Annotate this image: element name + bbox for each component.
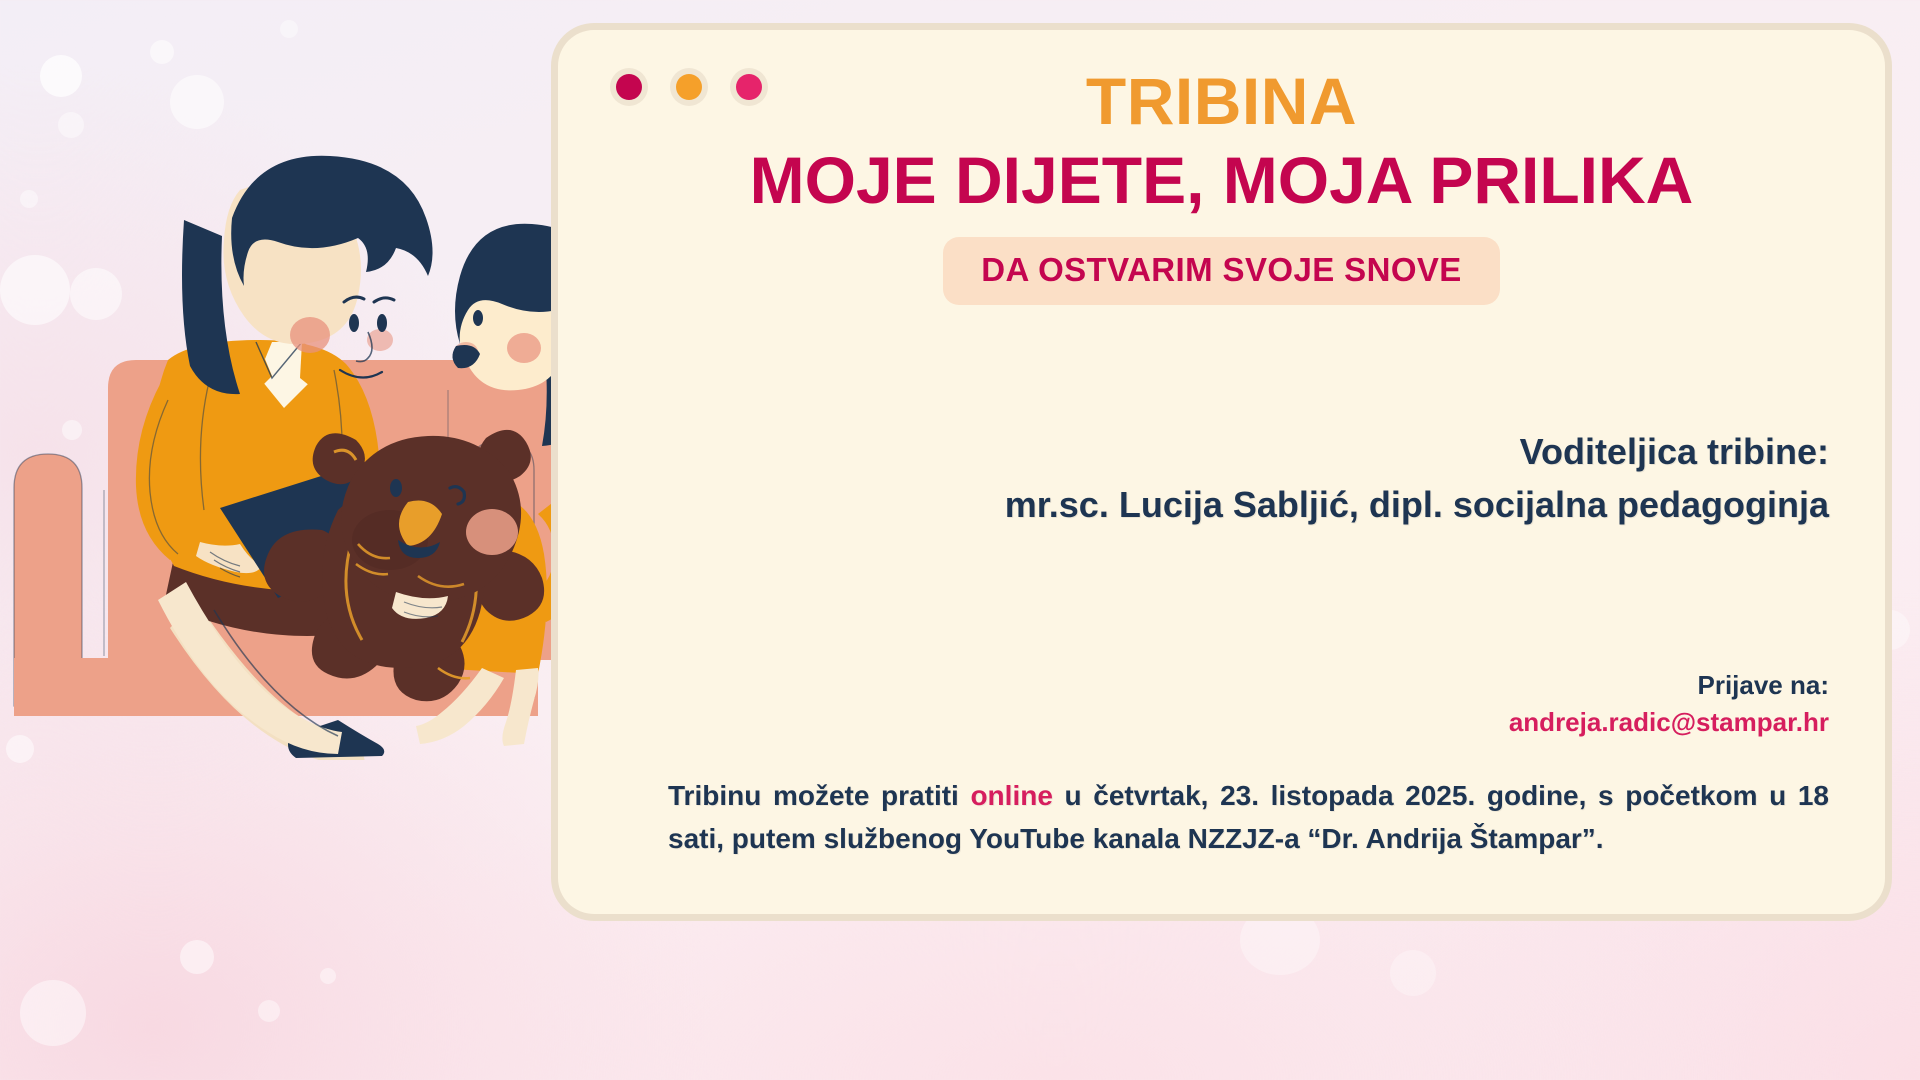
host-info: Voditeljica tribine: mr.sc. Lucija Sablj… (1005, 425, 1829, 532)
bokeh-dot (150, 40, 174, 64)
poster-card: TRIBINA MOJE DIJETE, MOJA PRILIKA DA OST… (558, 30, 1885, 914)
title-block: TRIBINA MOJE DIJETE, MOJA PRILIKA DA OST… (558, 68, 1885, 305)
host-name: mr.sc. Lucija Sabljić, dipl. socijalna p… (1005, 478, 1829, 531)
body-part1: Tribinu možete pratiti (668, 780, 970, 811)
title-kicker: TRIBINA (558, 68, 1885, 135)
signup-info: Prijave na: andreja.radic@stampar.hr (1509, 667, 1829, 741)
signup-label: Prijave na: (1509, 667, 1829, 704)
signup-email[interactable]: andreja.radic@stampar.hr (1509, 704, 1829, 741)
body-highlight: online (970, 780, 1052, 811)
body-paragraph: Tribinu možete pratiti online u četvrtak… (668, 775, 1829, 860)
footer: NASTAVNI ZAVOD ZA JAVNO ZDRAVSTVO DR. AN… (0, 930, 1920, 1080)
bokeh-dot (280, 20, 298, 38)
subtitle-pill: DA OSTVARIM SVOJE SNOVE (943, 237, 1499, 305)
mother-child-illustration (0, 70, 640, 760)
page-title: MOJE DIJETE, MOJA PRILIKA (558, 145, 1885, 216)
host-label: Voditeljica tribine: (1005, 425, 1829, 478)
